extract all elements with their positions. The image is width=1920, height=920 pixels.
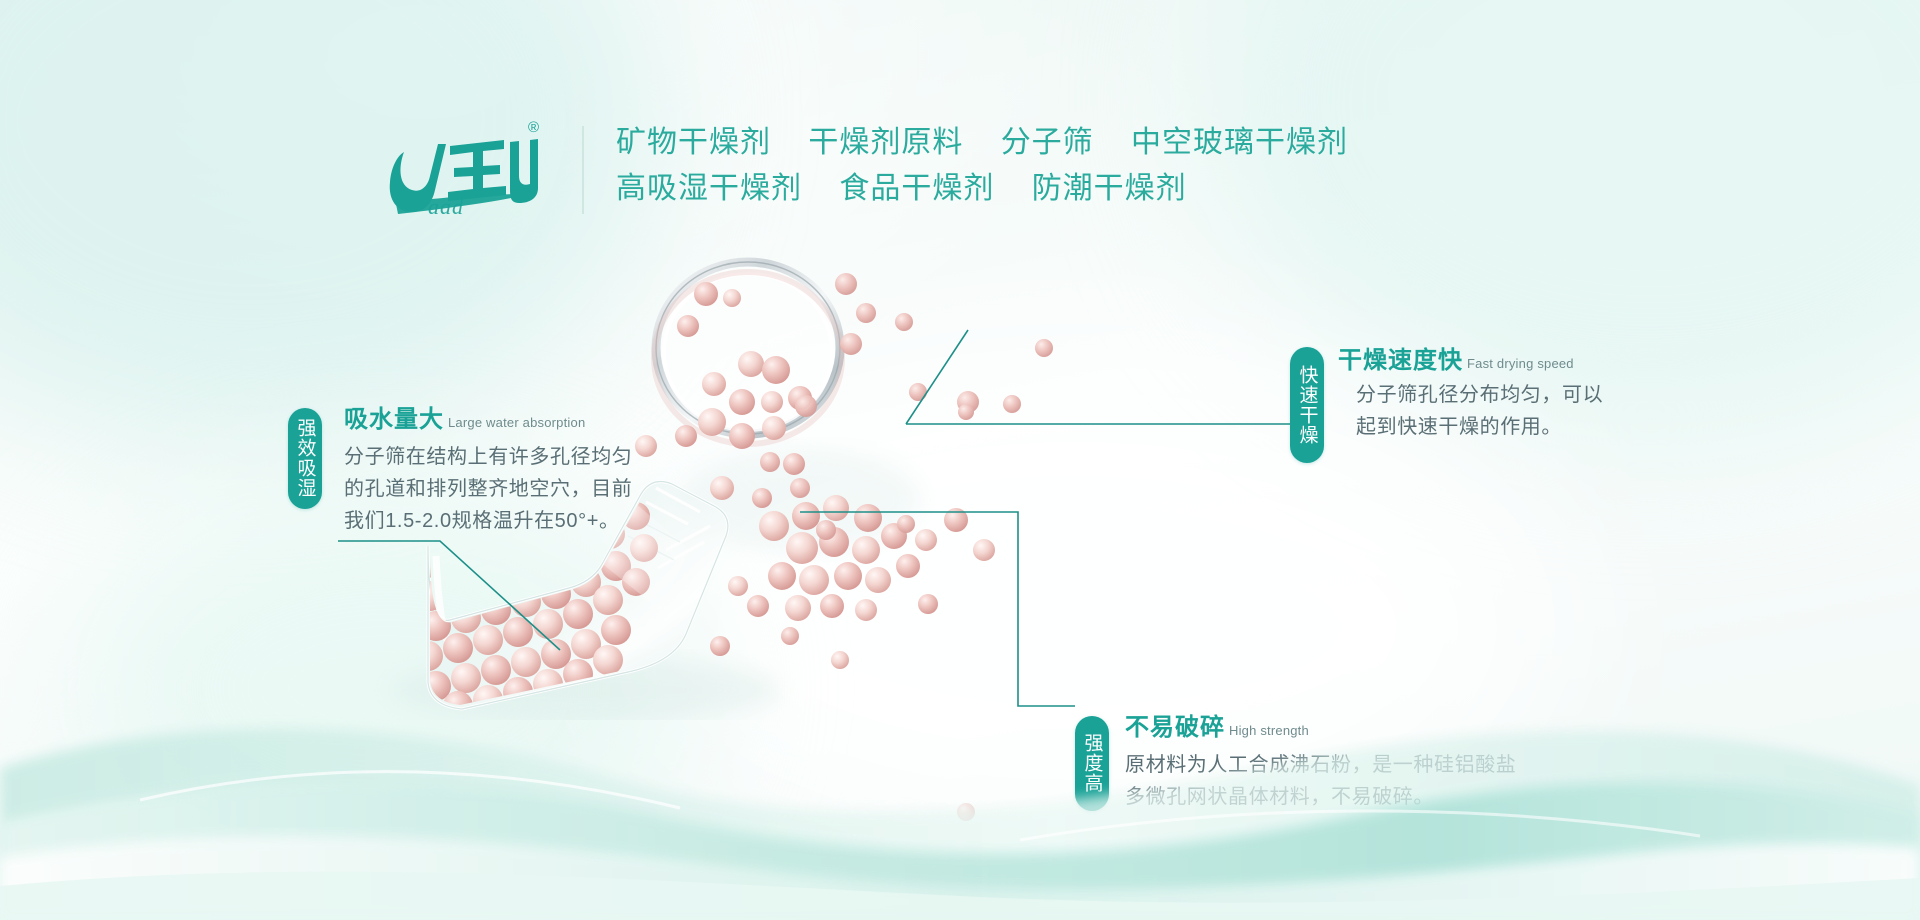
promo-banner: aad ® 矿物干燥剂 干燥剂原料 分子筛 中空玻璃干燥剂 高吸湿干燥剂 食品干… — [0, 0, 1920, 920]
callout-description-absorption: 分子筛在结构上有许多孔径均匀 的孔道和排列整齐地空穴，目前 我们1.5-2.0规… — [344, 441, 632, 537]
callout-tag-fast-drying: 快速干燥 — [1290, 347, 1324, 463]
callout-tag-strong-absorption: 强效吸湿 — [288, 408, 322, 509]
callout-title-strength: 不易破碎 — [1125, 714, 1225, 741]
header-keyword-line-1: 矿物干燥剂 干燥剂原料 分子筛 中空玻璃干燥剂 — [616, 120, 1576, 166]
callout-description-strength: 原材料为人工合成沸石粉，是一种硅铝酸盐 多微孔网状晶体材料，不易破碎。 — [1125, 749, 1516, 813]
keyword-insulating-glass-desiccant[interactable]: 中空玻璃干燥剂 — [1131, 126, 1348, 159]
site-header: aad ® 矿物干燥剂 干燥剂原料 分子筛 中空玻璃干燥剂 高吸湿干燥剂 食品干… — [0, 118, 1920, 228]
callout-tag-high-strength: 强度高 — [1075, 716, 1109, 811]
yaad-logo-icon: aad — [388, 124, 538, 216]
callout-high-strength: 强度高 不易破碎High strength 原材料为人工合成沸石粉，是一种硅铝酸… — [1075, 716, 1516, 813]
callout-description-drying: 分子筛孔径分布均匀，可以 起到快速干燥的作用。 — [1356, 379, 1603, 443]
callout-fast-drying-speed: 快速干燥 干燥速度快Fast drying speed 分子筛孔径分布均匀，可以… — [1290, 347, 1603, 463]
svg-text:aad: aad — [428, 194, 464, 216]
callout-subtitle-absorption: Large water absorption — [448, 415, 585, 430]
callout-title-absorption: 吸水量大 — [344, 406, 444, 433]
keyword-food-desiccant[interactable]: 食品干燥剂 — [839, 172, 994, 205]
keyword-desiccant-raw-material[interactable]: 干燥剂原料 — [808, 126, 963, 159]
callout-large-water-absorption: 强效吸湿 吸水量大Large water absorption 分子筛在结构上有… — [288, 408, 632, 537]
callout-subtitle-drying: Fast drying speed — [1467, 356, 1574, 371]
callout-subtitle-strength: High strength — [1229, 723, 1309, 738]
header-divider — [582, 126, 584, 214]
brand-logo[interactable]: aad ® — [388, 118, 578, 223]
registered-trademark-icon: ® — [528, 120, 539, 135]
callout-title-drying: 干燥速度快 — [1338, 347, 1463, 374]
header-keywords: 矿物干燥剂 干燥剂原料 分子筛 中空玻璃干燥剂 高吸湿干燥剂 食品干燥剂 防潮干… — [616, 120, 1576, 212]
bottom-wave-decoration — [0, 690, 1920, 920]
keyword-mineral-desiccant[interactable]: 矿物干燥剂 — [616, 126, 771, 159]
keyword-molecular-sieve[interactable]: 分子筛 — [1001, 126, 1094, 159]
header-keyword-line-2: 高吸湿干燥剂 食品干燥剂 防潮干燥剂 — [616, 166, 1576, 212]
keyword-high-moisture-absorption-desiccant[interactable]: 高吸湿干燥剂 — [616, 172, 802, 205]
keyword-moisture-proof-desiccant[interactable]: 防潮干燥剂 — [1032, 172, 1187, 205]
